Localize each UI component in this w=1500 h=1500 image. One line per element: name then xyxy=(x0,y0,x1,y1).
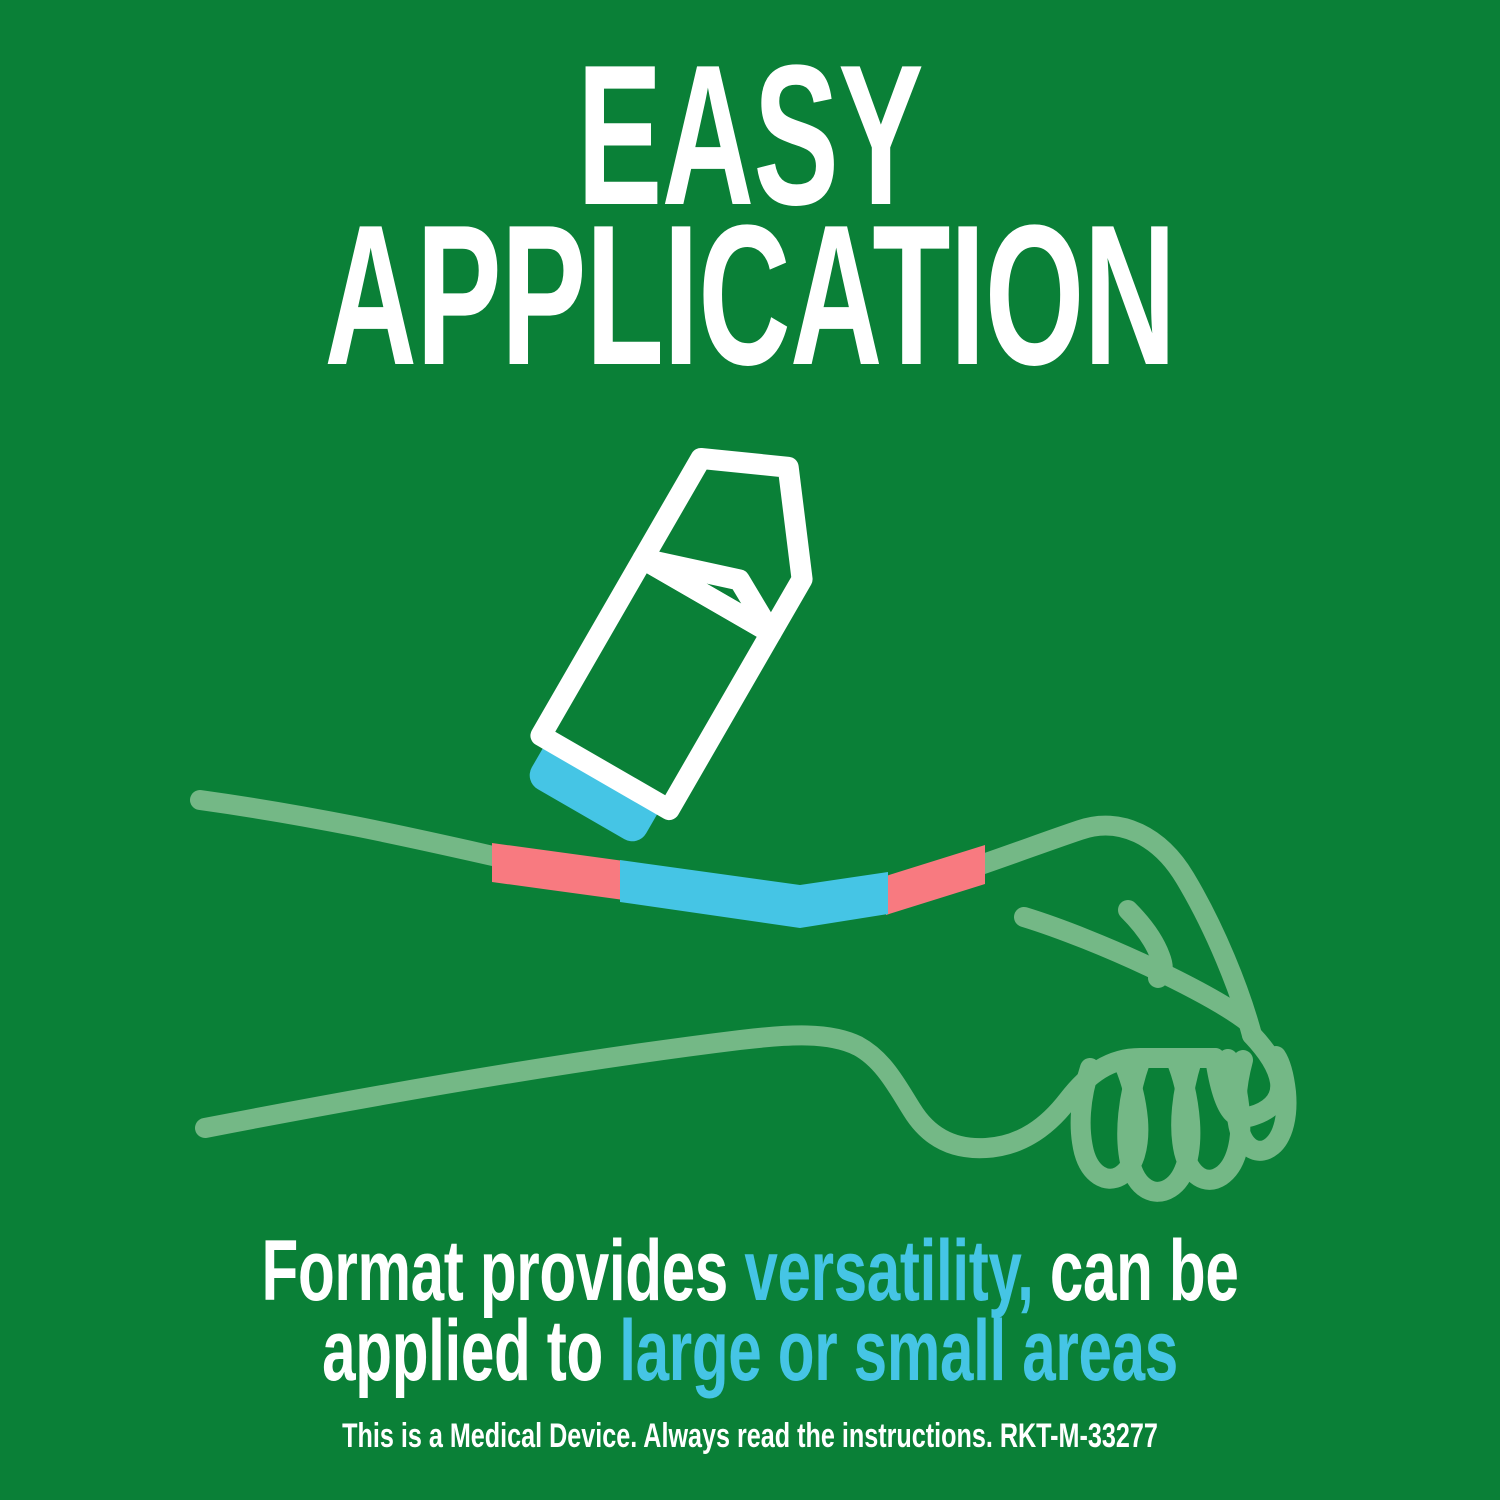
subtitle-line-1: Format provides versatility, can be xyxy=(225,1228,1275,1314)
upper-arm-contour xyxy=(200,800,1252,1035)
skin-patch-left xyxy=(492,843,624,900)
poster-canvas: EASY APPLICATION xyxy=(0,0,1500,1500)
lower-arm-contour xyxy=(205,1035,1215,1148)
subtitle-line-2: applied to large or small areas xyxy=(225,1308,1275,1394)
medical-device-disclaimer: This is a Medical Device. Always read th… xyxy=(195,1419,1305,1453)
applied-cream-stripe xyxy=(620,860,888,928)
subtitle-line2-accent: large or small areas xyxy=(619,1303,1178,1399)
skin-patch-right xyxy=(886,845,985,915)
arm-and-hand-outline xyxy=(200,800,1286,1192)
cream-tube xyxy=(517,427,847,851)
subtitle-line2-part1: applied to xyxy=(322,1303,619,1399)
